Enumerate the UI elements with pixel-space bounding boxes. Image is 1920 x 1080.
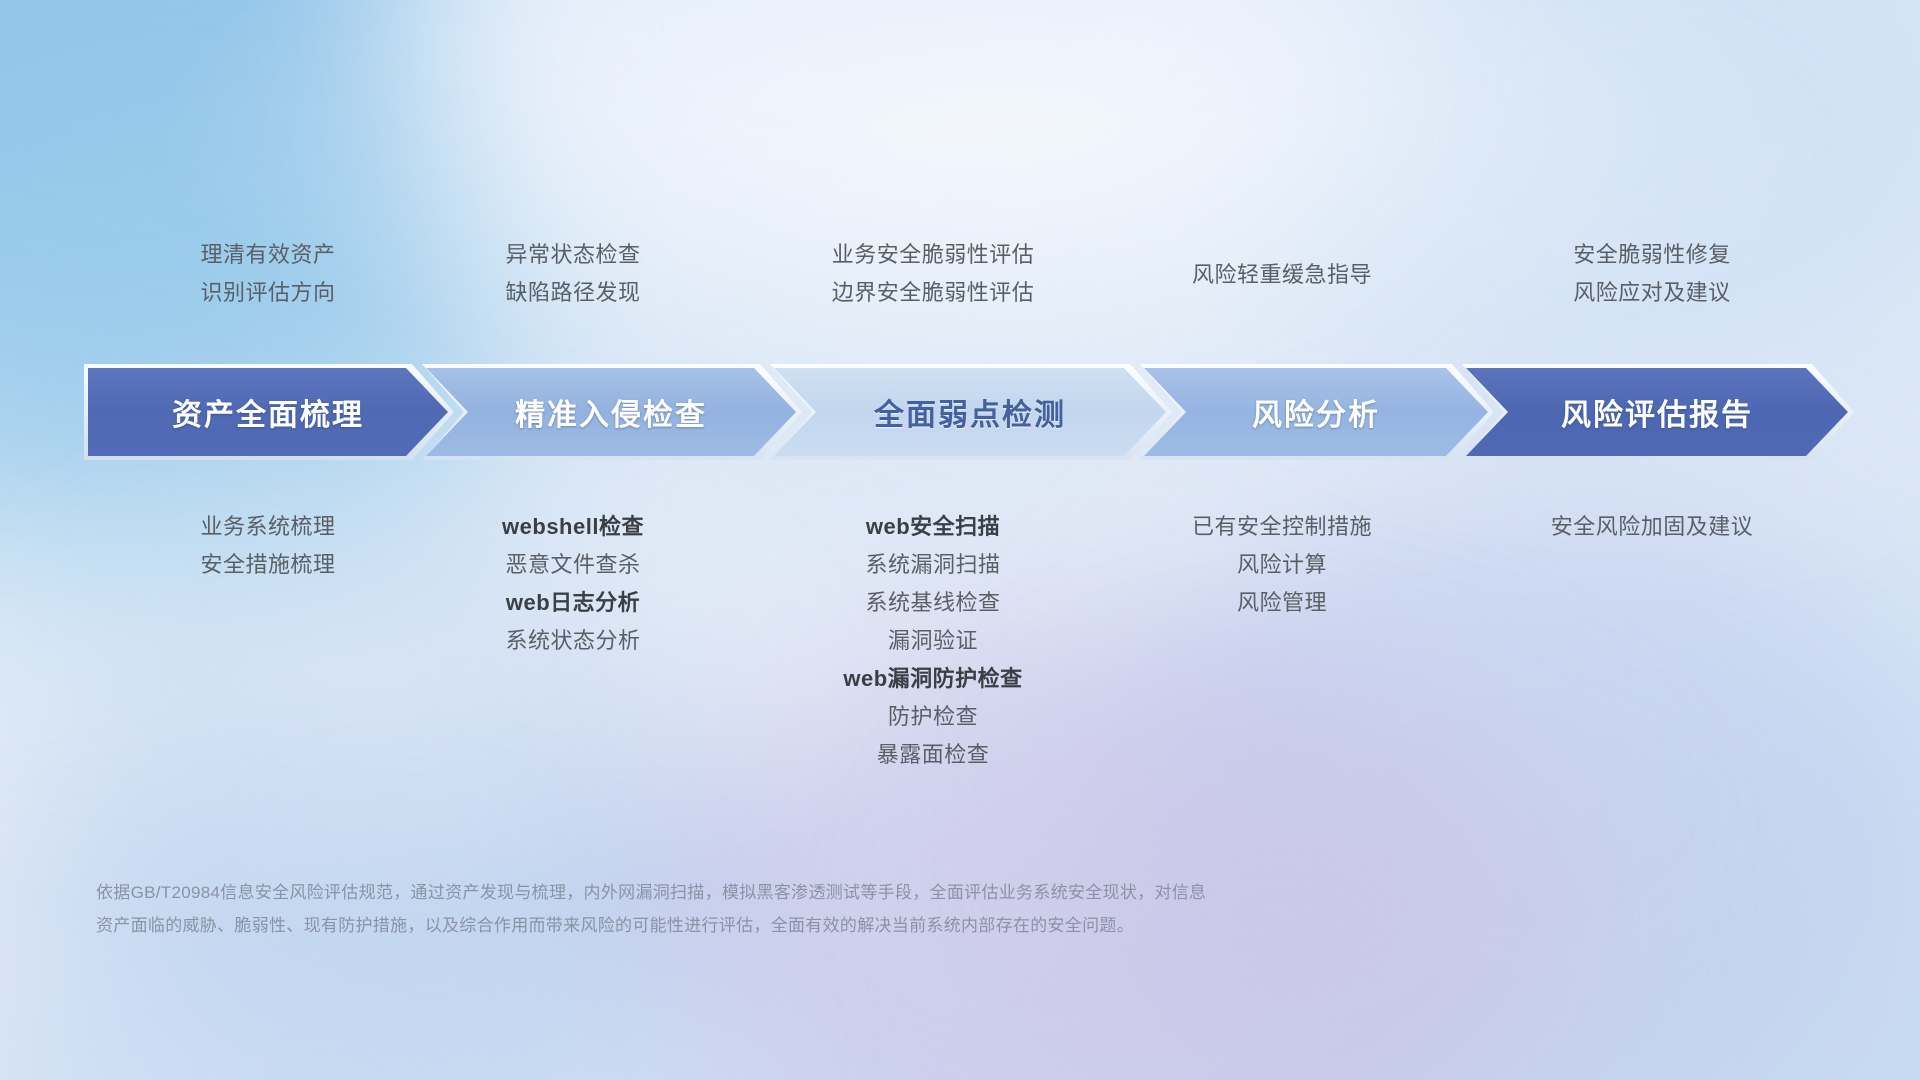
stage-1-caption: 资产全面梳理	[172, 390, 364, 434]
footer-line-2: 资产面临的威胁、脆弱性、现有防护措施，以及综合作用而带来风险的可能性进行评估，全…	[96, 909, 1656, 942]
stage-3-caption: 全面弱点检测	[874, 390, 1066, 434]
stage-5-top-item: 风险应对及建议	[1462, 274, 1842, 312]
stage-5-caption: 风险评估报告	[1561, 390, 1753, 434]
diagram-content: 理清有效资产 识别评估方向 异常状态检查 缺陷路径发现 业务安全脆弱性评估 边界…	[0, 0, 1920, 1080]
stage-3-bottom-item: 系统基线检查	[748, 584, 1118, 622]
stage-2-top-item: 异常状态检查	[388, 236, 758, 274]
stage-4-top-list: 风险轻重缓急指导	[1110, 256, 1454, 294]
stage-3-bottom-item: web安全扫描	[748, 508, 1118, 546]
stage-2-caption: 精准入侵检查	[515, 390, 707, 434]
stage-5-top-list: 安全脆弱性修复 风险应对及建议	[1462, 236, 1842, 312]
stage-4-bottom-item: 风险计算	[1110, 546, 1454, 584]
stage-3-arrow[interactable]: 全面弱点检测	[774, 368, 1166, 456]
stage-3-bottom-item: 防护检查	[748, 698, 1118, 736]
stage-2-top-list: 异常状态检查 缺陷路径发现	[388, 236, 758, 312]
stage-4-top-item: 风险轻重缓急指导	[1110, 256, 1454, 294]
stage-4-bottom-list: 已有安全控制措施 风险计算 风险管理	[1110, 508, 1454, 622]
footer-note: 依据GB/T20984信息安全风险评估规范，通过资产发现与梳理，内外网漏洞扫描，…	[96, 876, 1656, 942]
stage-3-top-item: 边界安全脆弱性评估	[748, 274, 1118, 312]
slide-canvas: 理清有效资产 识别评估方向 异常状态检查 缺陷路径发现 业务安全脆弱性评估 边界…	[0, 0, 1920, 1080]
stage-3-top-list: 业务安全脆弱性评估 边界安全脆弱性评估	[748, 236, 1118, 312]
stage-4-caption: 风险分析	[1252, 390, 1380, 434]
stage-2-bottom-item: web日志分析	[388, 584, 758, 622]
stage-2-bottom-list: webshell检查 恶意文件查杀 web日志分析 系统状态分析	[388, 508, 758, 660]
stage-2-bottom-item: 恶意文件查杀	[388, 546, 758, 584]
stage-5-top-item: 安全脆弱性修复	[1462, 236, 1842, 274]
stage-5-bottom-list: 安全风险加固及建议	[1462, 508, 1842, 546]
footer-line-1: 依据GB/T20984信息安全风险评估规范，通过资产发现与梳理，内外网漏洞扫描，…	[96, 876, 1656, 909]
stage-4-bottom-item: 已有安全控制措施	[1110, 508, 1454, 546]
stage-2-top-item: 缺陷路径发现	[388, 274, 758, 312]
stage-3-bottom-item: 漏洞验证	[748, 622, 1118, 660]
stage-3-bottom-item: web漏洞防护检查	[748, 660, 1118, 698]
stage-4-bottom-item: 风险管理	[1110, 584, 1454, 622]
stage-1-arrow[interactable]: 资产全面梳理	[88, 368, 448, 456]
stage-3-bottom-list: web安全扫描 系统漏洞扫描 系统基线检查 漏洞验证 web漏洞防护检查 防护检…	[748, 508, 1118, 774]
stage-2-bottom-item: 系统状态分析	[388, 622, 758, 660]
process-arrow-band: 资产全面梳理 精准入侵检查 全面弱点检测 风险分析 风险评估报告	[88, 368, 1848, 456]
stage-5-arrow[interactable]: 风险评估报告	[1466, 368, 1848, 456]
stage-5-bottom-item: 安全风险加固及建议	[1462, 508, 1842, 546]
stage-4-arrow[interactable]: 风险分析	[1144, 368, 1488, 456]
stage-3-top-item: 业务安全脆弱性评估	[748, 236, 1118, 274]
stage-2-bottom-item: webshell检查	[388, 508, 758, 546]
stage-3-bottom-item: 系统漏洞扫描	[748, 546, 1118, 584]
stage-3-bottom-item: 暴露面检查	[748, 736, 1118, 774]
stage-2-arrow[interactable]: 精准入侵检查	[426, 368, 796, 456]
